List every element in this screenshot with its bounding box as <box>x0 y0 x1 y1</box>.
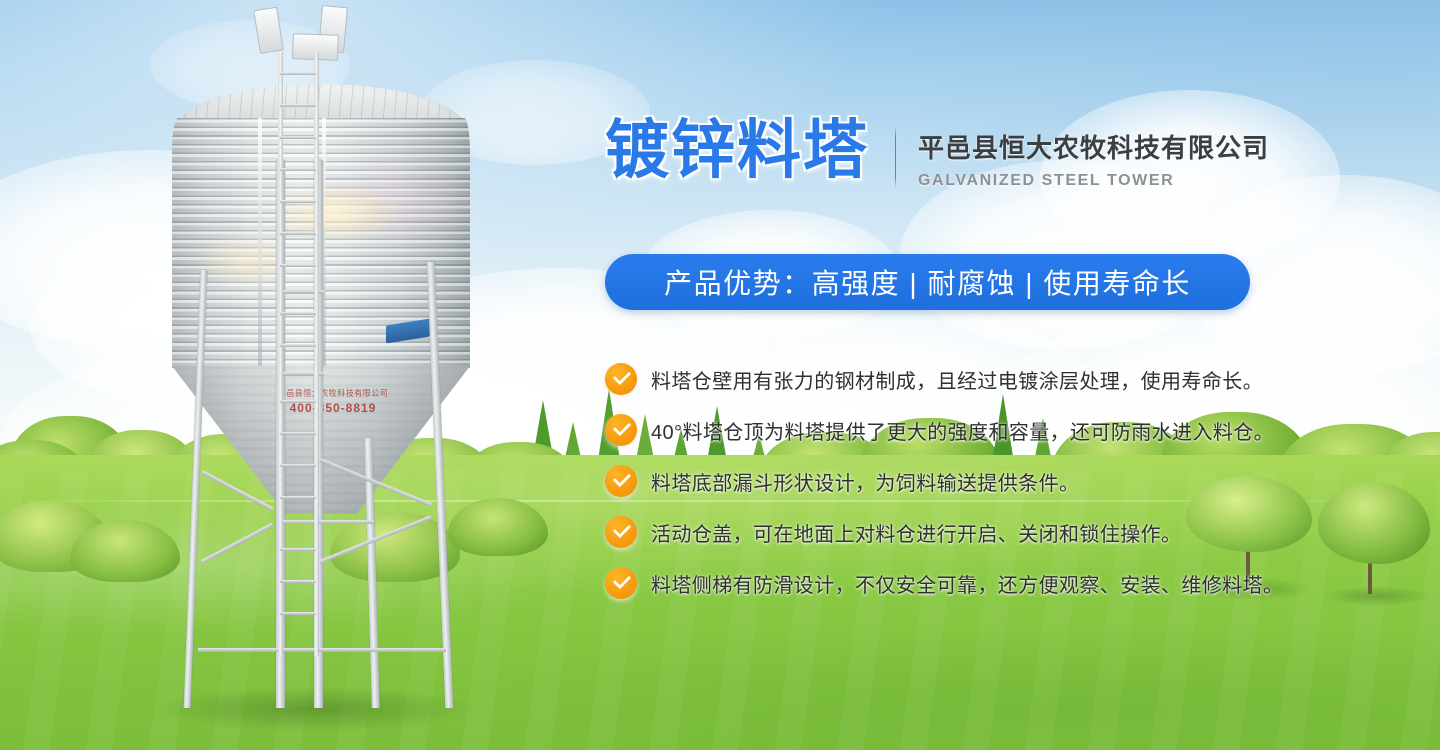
promo-banner: 平邑县恒大农牧科技有限公司 400-850-8819 <box>0 0 1440 750</box>
advantage-pill: 产品优势：高强度 | 耐腐蚀 | 使用寿命长 <box>605 254 1250 310</box>
check-circle-icon <box>605 414 637 446</box>
check-circle-icon <box>605 516 637 548</box>
banner-content: 镀锌料塔 平邑县恒大农牧科技有限公司 GALVANIZED STEEL TOWE… <box>0 0 1440 750</box>
feature-item: 40°料塔仓顶为料塔提供了更大的强度和容量，还可防雨水进入料仓。 <box>605 409 1325 451</box>
page-title: 镀锌料塔 <box>605 118 869 182</box>
advantage-pill-label: 产品优势：高强度 | 耐腐蚀 | 使用寿命长 <box>664 262 1191 302</box>
company-name: 平邑县恒大农牧科技有限公司 <box>918 132 1269 165</box>
feature-text: 活动仓盖，可在地面上对料仓进行开启、关闭和锁住操作。 <box>651 518 1181 547</box>
check-circle-icon <box>605 465 637 497</box>
headline-row: 镀锌料塔 平邑县恒大农牧科技有限公司 GALVANIZED STEEL TOWE… <box>605 118 1269 190</box>
feature-text: 料塔仓壁用有张力的钢材制成，且经过电镀涂层处理，使用寿命长。 <box>651 365 1263 394</box>
feature-item: 料塔底部漏斗形状设计，为饲料输送提供条件。 <box>605 460 1325 502</box>
check-circle-icon <box>605 567 637 599</box>
title-divider <box>895 126 896 188</box>
company-name-english: GALVANIZED STEEL TOWER <box>918 172 1269 190</box>
feature-item: 料塔侧梯有防滑设计，不仅安全可靠，还方便观察、安装、维修料塔。 <box>605 562 1325 604</box>
feature-list: 料塔仓壁用有张力的钢材制成，且经过电镀涂层处理，使用寿命长。 40°料塔仓顶为料… <box>605 358 1325 613</box>
feature-item: 活动仓盖，可在地面上对料仓进行开启、关闭和锁住操作。 <box>605 511 1325 553</box>
feature-text: 料塔底部漏斗形状设计，为饲料输送提供条件。 <box>651 467 1079 496</box>
feature-item: 料塔仓壁用有张力的钢材制成，且经过电镀涂层处理，使用寿命长。 <box>605 358 1325 400</box>
feature-text: 料塔侧梯有防滑设计，不仅安全可靠，还方便观察、安装、维修料塔。 <box>651 569 1283 598</box>
feature-text: 40°料塔仓顶为料塔提供了更大的强度和容量，还可防雨水进入料仓。 <box>651 416 1274 445</box>
check-circle-icon <box>605 363 637 395</box>
company-block: 平邑县恒大农牧科技有限公司 GALVANIZED STEEL TOWER <box>918 132 1269 190</box>
